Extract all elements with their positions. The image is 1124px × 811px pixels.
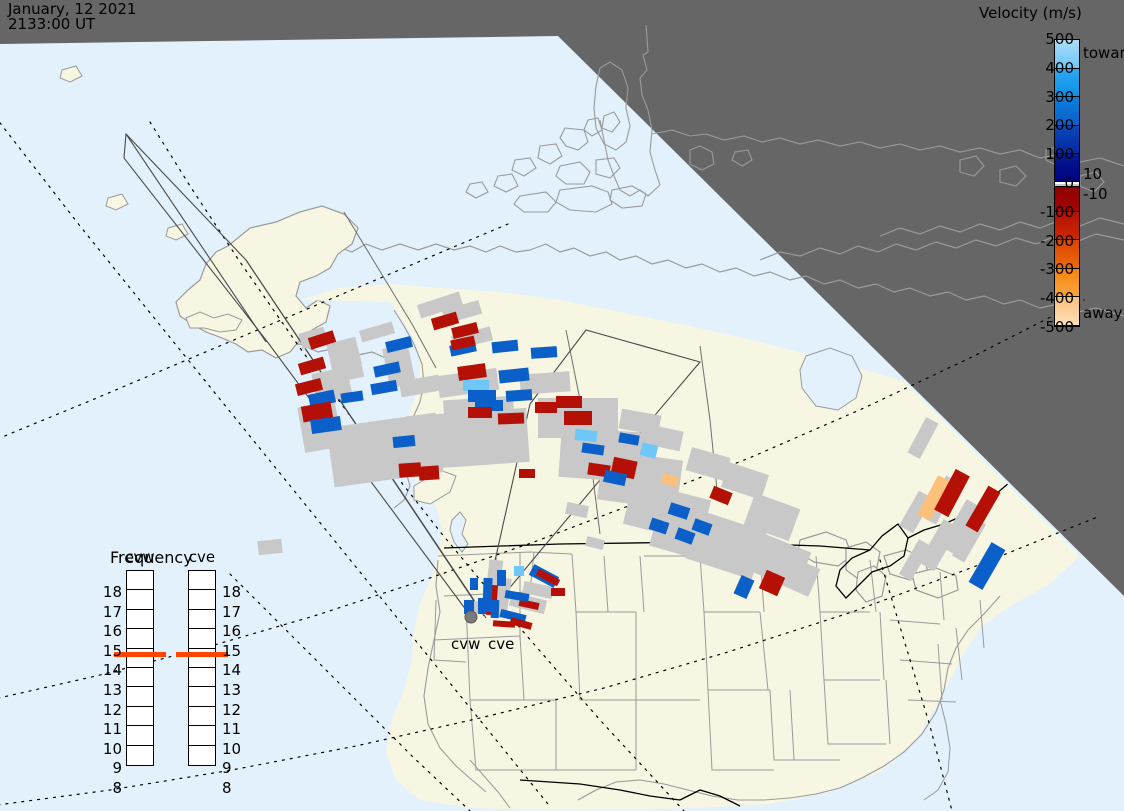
frequency-tick-cve-16: 16 [222,622,248,640]
colorbar-tick-100: 100 [1045,145,1074,163]
frequency-tick-cve-18: 18 [222,583,248,601]
frequency-cell [127,629,153,648]
frequency-radar-name-cve: cve [182,548,222,566]
radar-cell-nodata [257,539,282,555]
colorbar-tick-200: 200 [1045,116,1074,134]
frequency-cell [189,726,215,745]
frequency-tick-cvw-15: 15 [96,642,122,660]
frequency-cell [127,726,153,745]
radar-cell-velocity [535,402,557,413]
frequency-cell [189,746,215,765]
colorbar-label-toward: toward [1083,44,1124,62]
colorbar-tick--300: -300 [1040,260,1074,278]
frequency-cell [127,590,153,609]
frequency-tick-cvw-10: 10 [96,740,122,758]
radar-cell-velocity [556,396,582,408]
radar-cell-velocity [498,413,524,425]
radar-cell-velocity-near-site [514,566,524,576]
frequency-cell [189,610,215,629]
radar-cell-velocity [419,465,440,480]
frequency-cell [189,571,215,590]
frequency-cell [127,610,153,629]
radar-cell-velocity [506,389,533,402]
colorbar-tick--100: -100 [1040,203,1074,221]
radar-cell-velocity [574,429,597,442]
time-label: 2133:00 UT [8,15,95,33]
colorbar-tick-500: 500 [1045,30,1074,48]
frequency-cell [189,687,215,706]
frequency-cell [127,746,153,765]
radar-cell-velocity-near-site [497,570,506,586]
superdarn-velocity-map: January, 12 2021 2133:00 UT Velocity (m/… [0,0,1124,811]
colorbar-title: Velocity (m/s) [979,4,1082,22]
frequency-tick-cve-9: 9 [222,759,248,777]
colorbar-label-negative-threshold: -10 [1083,185,1108,203]
frequency-bar-cvw [126,570,154,766]
frequency-marker-cve [176,652,228,657]
radar-cell-velocity-near-site [478,598,486,614]
radar-cell-velocity [399,462,422,478]
colorbar-tick-400: 400 [1045,59,1074,77]
radar-cell-velocity-near-site [551,588,565,596]
frequency-tick-cve-8: 8 [222,779,248,797]
timestamp-block: January, 12 2021 2133:00 UT [8,2,136,32]
frequency-tick-cvw-8: 8 [96,779,122,797]
frequency-tick-cve-11: 11 [222,720,248,738]
radar-cell-velocity [463,380,489,391]
frequency-tick-cvw-17: 17 [96,603,122,621]
map-site-label-cvw: cvw [451,635,480,653]
frequency-bar-cve [188,570,216,766]
radar-cell-velocity [519,469,535,478]
frequency-tick-cve-10: 10 [222,740,248,758]
radar-cell-velocity [531,346,558,359]
frequency-tick-cvw-9: 9 [96,759,122,777]
radar-cell-velocity [564,411,592,425]
frequency-radar-name-cvw: cvw [120,548,160,566]
colorbar-tick-0: 0 [1064,174,1074,192]
frequency-tick-cvw-13: 13 [96,681,122,699]
frequency-cell [189,707,215,726]
colorbar-tick--200: -200 [1040,232,1074,250]
frequency-tick-cve-13: 13 [222,681,248,699]
colorbar-tick--500: -500 [1040,318,1074,336]
frequency-tick-cvw-14: 14 [96,661,122,679]
radar-site-marker [465,611,477,623]
radar-cell-velocity-near-site [491,600,500,618]
frequency-cell [127,687,153,706]
frequency-cell [127,707,153,726]
frequency-tick-cve-17: 17 [222,603,248,621]
velocity-colorbar: Velocity (m/s) 5004003002001000-100-200-… [975,4,1124,334]
colorbar-tick--400: -400 [1040,289,1074,307]
frequency-cell [127,668,153,687]
frequency-tick-cvw-12: 12 [96,701,122,719]
frequency-tick-cve-15: 15 [222,642,248,660]
frequency-cell [189,629,215,648]
frequency-tick-cvw-18: 18 [96,583,122,601]
frequency-legend: Frequency cvw18171615141312111098cve1817… [96,548,256,788]
radar-cell-velocity [392,435,415,448]
radar-cell-velocity-near-site [470,578,478,590]
frequency-tick-cve-14: 14 [222,661,248,679]
frequency-cell [189,590,215,609]
frequency-cell [127,571,153,590]
map-site-label-cve: cve [488,635,514,653]
radar-cell-velocity [468,407,492,418]
frequency-cell [189,668,215,687]
frequency-tick-cvw-11: 11 [96,720,122,738]
colorbar-label-positive-threshold: 10 [1083,165,1102,183]
colorbar-tick-300: 300 [1045,88,1074,106]
colorbar-label-away: away [1083,304,1123,322]
frequency-tick-cve-12: 12 [222,701,248,719]
frequency-tick-cvw-16: 16 [96,622,122,640]
